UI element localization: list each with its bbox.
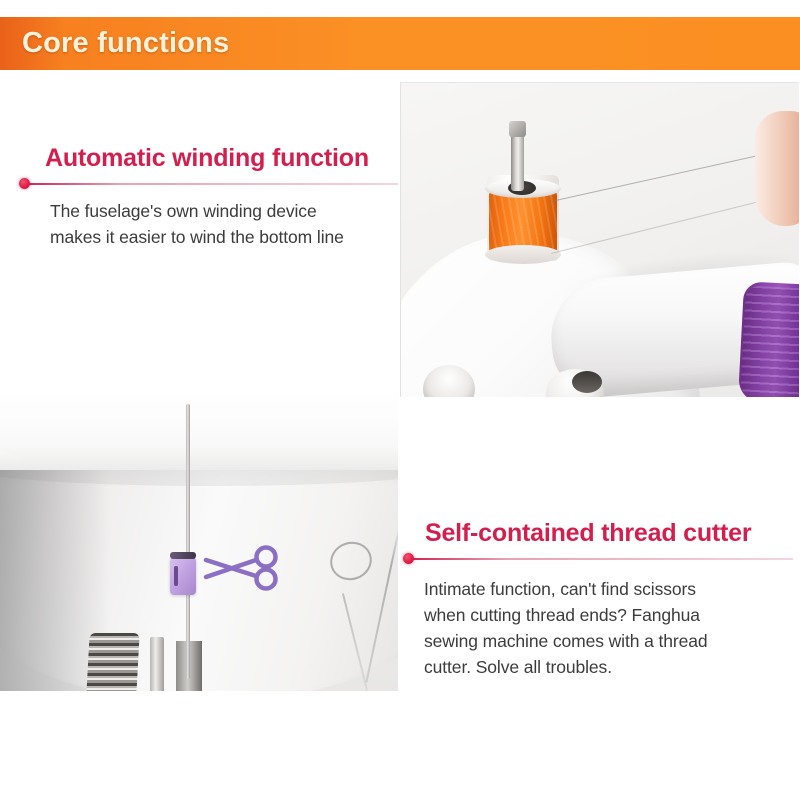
- body-seam: [186, 404, 190, 679]
- header-band: Core functions: [0, 17, 800, 70]
- feature-body-automatic-winding: The fuselage's own winding device makes …: [50, 198, 390, 250]
- cutter-clip-cap: [170, 552, 196, 559]
- presser-rod: [150, 637, 164, 691]
- fingertip: [755, 111, 799, 226]
- page-title: Core functions: [22, 27, 229, 60]
- feature-heading-automatic-winding: Automatic winding function: [45, 144, 369, 173]
- bullet-dot-icon: [19, 178, 30, 189]
- thread-cutter-photo: [0, 394, 398, 691]
- feature-heading-thread-cutter: Self-contained thread cutter: [425, 519, 751, 548]
- divider-line: [25, 183, 398, 185]
- presser-spring: [86, 633, 139, 691]
- cutter-blade-slot: [174, 566, 178, 586]
- spool-bottom-flange: [485, 245, 561, 264]
- feature-divider-thread-cutter: [403, 553, 793, 565]
- spindle-cap: [509, 121, 526, 137]
- feature-body-thread-cutter: Intimate function, can't find scissors w…: [424, 576, 774, 680]
- divider-line: [409, 558, 793, 560]
- orange-thread-wrap: [489, 191, 557, 253]
- feature-divider-automatic-winding: [19, 178, 398, 190]
- purple-tension-knob: [738, 281, 799, 397]
- bullet-dot-icon: [403, 553, 414, 564]
- scissors-icon: [200, 544, 286, 592]
- bobbin-winder-photo: [400, 82, 799, 397]
